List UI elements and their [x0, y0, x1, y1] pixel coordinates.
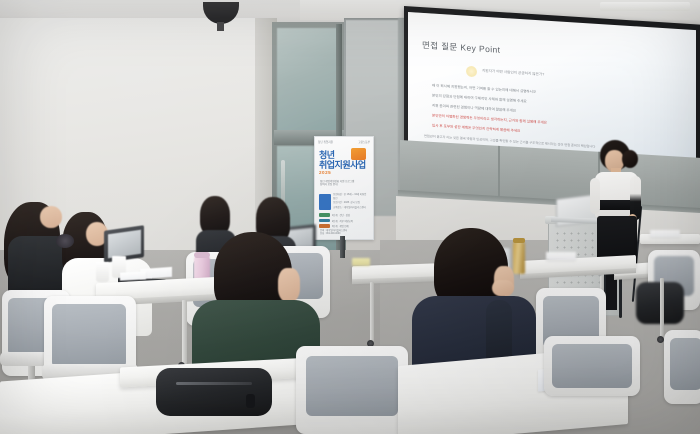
hair-clip [56, 234, 74, 248]
banner-header-right: 고용노동부 [358, 140, 370, 147]
banner-title-line2: 취업지원사업 [319, 160, 369, 170]
banner-row-chip [319, 219, 330, 222]
board-seam [498, 146, 500, 202]
standing-banner: 청년 취업지원 고용노동부 청년 취업지원사업 2025 청년 취업역량강화 지… [314, 136, 374, 240]
handout-papers [120, 271, 146, 280]
handout-papers [546, 252, 576, 260]
slide-accent-dot [466, 66, 477, 78]
presenter-hair-bun [622, 150, 638, 168]
banner-header-left: 청년 취업지원 [318, 140, 333, 147]
banner-title-line1: 청년 [319, 150, 369, 160]
chair-backrest [52, 304, 126, 368]
attendee-face [40, 206, 62, 228]
banner-row: 1단계 진단 · 상담 [319, 213, 369, 217]
chair-backrest [670, 338, 700, 390]
black-backpack [156, 368, 272, 416]
chair-backrest [306, 356, 398, 416]
backpack-zipper [176, 382, 252, 385]
laptop-screen [108, 230, 141, 259]
banner-subtitle-line: 참여자 모집 안내 [320, 183, 368, 186]
banner-body-line: 교육장소 : 대학일자리플러스센터 [333, 206, 369, 210]
desk-leg [370, 282, 374, 342]
banner-subtitle: 청년 취업역량강화 지원 프로그램 참여자 모집 안내 [320, 180, 368, 187]
banner-row-label: 2단계 [332, 219, 338, 223]
tumbler-lid [513, 238, 525, 243]
attendee-hand [492, 280, 514, 296]
banner-row: 2단계 직무 역량교육 [319, 219, 369, 223]
desk-leg [660, 278, 664, 340]
speaker-mount [217, 22, 224, 31]
handout-papers [650, 230, 680, 237]
door-glass-upper [277, 28, 339, 132]
classroom-photo: 면접 질문 Key Point 지원자가 어떤 사람인지 궁금하지 않은가? 왜… [0, 0, 700, 434]
banner-table: 1단계 진단 · 상담 2단계 직무 역량교육 3단계 취업 연계 [319, 213, 369, 230]
banner-row-value: 진단 · 상담 [340, 213, 351, 217]
banner-stand [340, 236, 345, 258]
banner-body: 모집대상 : 만 18세 ~ 34세 미취업 청년 모집기간 : 2025. 상… [333, 193, 369, 210]
ceiling-light [600, 2, 690, 11]
banner-row-value: 취업 연계 [340, 224, 349, 228]
backpack-strap [246, 394, 255, 408]
sticky-note-pad [352, 258, 370, 266]
gold-tumbler [513, 242, 525, 274]
projection-screen: 면접 질문 Key Point 지원자가 어떤 사람인지 궁금하지 않은가? 왜… [408, 12, 696, 164]
tumbler-lid [194, 252, 210, 258]
banner-title-block: 청년 취업지원사업 2025 [319, 150, 369, 176]
desk-caster [657, 336, 664, 343]
desk-leg [182, 300, 187, 364]
banner-row-label: 3단계 [332, 224, 338, 228]
chair-backrest [552, 344, 632, 388]
attendee-ear-face [278, 268, 300, 302]
banner-row-chip [319, 224, 330, 227]
banner-blue-box [319, 194, 331, 210]
banner-row-chip [319, 213, 330, 216]
banner-row: 3단계 취업 연계 [319, 224, 369, 228]
paper-cup [96, 262, 109, 282]
banner-row-label: 1단계 [332, 213, 338, 217]
banner-year: 2025 [319, 170, 369, 175]
banner-header: 청년 취업지원 고용노동부 [318, 140, 370, 147]
banner-row-value: 직무 역량교육 [340, 219, 353, 223]
presenter-left-arm [590, 178, 600, 214]
